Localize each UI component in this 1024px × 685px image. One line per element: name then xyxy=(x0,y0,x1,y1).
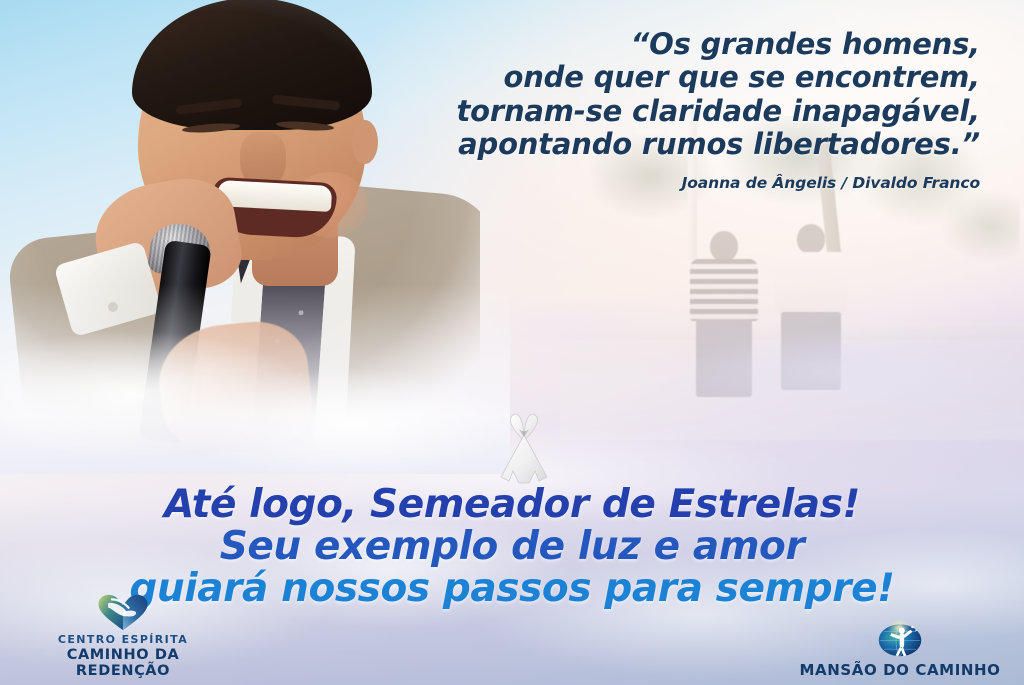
logo-centro-espirita-caminho-da-redencao: CENTRO ESPÍRITA CAMINHO DA REDENÇÃO xyxy=(18,592,228,679)
quote-line-3: tornam-se claridade inapagável, xyxy=(420,95,980,128)
hands-heart-icon xyxy=(18,592,228,632)
quote-block: “Os grandes homens, onde quer que se enc… xyxy=(420,28,980,192)
logo-left-line-2: CAMINHO DA REDENÇÃO xyxy=(18,647,228,679)
quote-attribution: Joanna de Ângelis / Divaldo Franco xyxy=(420,174,980,192)
message-line-2: Seu exemplo de luz e amor xyxy=(0,526,1024,568)
message-line-1: Até logo, Semeador de Estrelas! xyxy=(0,484,1024,526)
globe-figure-icon xyxy=(790,618,1010,658)
logo-mansao-do-caminho: MANSÃO DO CAMINHO xyxy=(790,618,1010,679)
quote-line-4: apontando rumos libertadores.” xyxy=(420,128,980,161)
logo-right-line-1: MANSÃO DO CAMINHO xyxy=(790,661,1010,679)
quote-line-1: “Os grandes homens, xyxy=(420,28,980,61)
white-mourning-ribbon-icon xyxy=(489,411,559,487)
logo-left-line-1: CENTRO ESPÍRITA xyxy=(18,633,228,646)
quote-line-2: onde quer que se encontrem, xyxy=(420,61,980,94)
memorial-poster: “Os grandes homens, onde quer que se enc… xyxy=(0,0,1024,685)
